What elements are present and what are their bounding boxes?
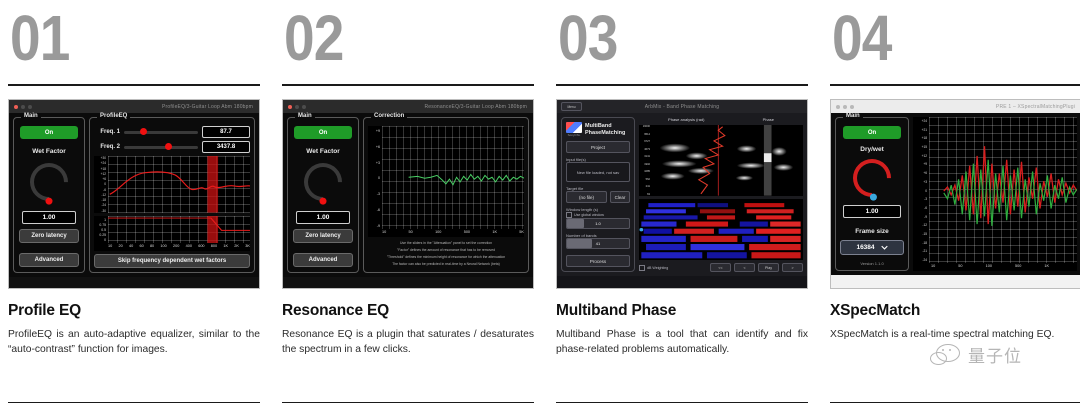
y-tick: -9 [913, 215, 927, 219]
y-tick: +18 [913, 136, 927, 140]
wet-factor-plot[interactable]: 1 0.75 0.5 0.25 0 [94, 216, 250, 251]
y-tick: +6 [94, 177, 106, 181]
freq1-label: Freq. 1 [94, 129, 120, 135]
y-tick: -12 [913, 223, 927, 227]
bands-field: Number of bands 41 [566, 233, 630, 249]
y-tick: 0.75 [94, 223, 106, 227]
y-tick: -30 [94, 209, 106, 213]
x-axis: 10 50 100 500 1K 5K [382, 230, 524, 237]
version-label: Version 1.1.0 [860, 261, 883, 266]
spectrogram-y-axis: 16000 9514 6727 4673 3141 1902 1085 562 … [639, 125, 651, 196]
wet-factor-knob[interactable] [296, 155, 350, 209]
window-body: SonyCSL MultiBand PhaseMatching Project … [557, 113, 807, 276]
y-tick: -3 [913, 197, 927, 201]
y-tick: -6 [913, 206, 927, 210]
x-tick: 80 [150, 244, 154, 251]
x-tick: 50 [409, 230, 413, 237]
x-tick: 400 [186, 244, 192, 251]
eq-response-curve [108, 156, 250, 213]
zero-latency-button[interactable]: Zero latency [19, 229, 79, 243]
main-group-label: Main [295, 113, 315, 119]
y-tick: +15 [913, 145, 927, 149]
card-description: ProfileEQ is an auto-adaptive equalizer,… [8, 327, 260, 358]
screenshot-multiband-phase: Menu ArbMix - Band Phase Matching SonyCS… [556, 99, 808, 289]
sony-csl-logo-icon [566, 122, 582, 133]
wet-factor-label: Wet Factor [32, 148, 65, 155]
global-window-label: Use global window [574, 213, 604, 217]
zoom-icon[interactable] [302, 105, 306, 109]
x-tick: 500 [464, 230, 470, 237]
pane-title-left: Phase analysis (rad) [668, 117, 704, 122]
bands-value: 41 [567, 239, 629, 248]
minimize-icon[interactable] [843, 105, 847, 109]
checkbox-icon[interactable] [639, 265, 645, 271]
close-icon[interactable] [836, 105, 840, 109]
window-title: ProfileEQ/3-Guitar Loop Abm 180bpm [162, 104, 253, 110]
window-title: ArbMix - Band Phase Matching [557, 104, 807, 110]
controls-panel: SonyCSL MultiBand PhaseMatching Project … [561, 117, 635, 272]
screenshot-xspecmatch: PRE 1 – XSpectralMatchingPlugi Main On D… [830, 99, 1080, 289]
zero-latency-button[interactable]: Zero latency [293, 229, 353, 243]
window-titlebar: Menu ArbMix - Band Phase Matching [557, 100, 807, 113]
card-description: Multiband Phase is a tool that can ident… [556, 327, 808, 358]
x-tick: 60 [139, 244, 143, 251]
drywet-value[interactable]: 1.00 [843, 205, 901, 218]
y-tick: 241 [639, 185, 650, 188]
y-tick: -15 [913, 232, 927, 236]
x-tick: 600 [198, 244, 204, 251]
x-tick: 2K [234, 244, 239, 251]
skip-wet-factors-button[interactable]: Skip frequency dependent wet factors [94, 254, 250, 268]
knob-handle-icon[interactable] [44, 196, 54, 206]
y-tick: 0 [94, 238, 106, 242]
knob-handle-icon[interactable] [868, 192, 878, 202]
x-tick: 1K [492, 230, 497, 237]
freq1-row: Freq. 1 87.7 [94, 126, 250, 138]
x-tick: 3K [245, 244, 250, 251]
brand-line-2: PhaseMatching [585, 130, 625, 136]
input-file-value[interactable]: New file loaded, not sav [566, 162, 630, 182]
wet-factor-label: Wet Factor [306, 148, 339, 155]
freq2-row: Freq. 2 3437.8 [94, 141, 250, 153]
divider-top [8, 84, 260, 86]
help-text-block: Use the sliders in the "Attenuation" pan… [368, 240, 524, 268]
window-title: ResonanceEQ/3-Guitar Loop Abm 180bpm [424, 104, 527, 110]
y-tick: 0.5 [94, 228, 106, 232]
zoom-icon[interactable] [28, 105, 32, 109]
main-group-label: Main [21, 113, 41, 119]
y-tick: -9 [368, 224, 380, 228]
x-tick: 10 [931, 264, 935, 271]
y-tick: +6 [368, 145, 380, 149]
y-tick: +3 [368, 161, 380, 165]
frame-size-value: 16384 [856, 244, 874, 251]
spectrum-plot[interactable]: +24 +21 +18 +15 +12 +9 +6 +3 0 -3 -6 -9 [913, 117, 1077, 271]
x-tick: 100 [160, 244, 166, 251]
freq2-value[interactable]: 3437.8 [202, 141, 250, 153]
freq2-label: Freq. 2 [94, 144, 120, 150]
wet-factor-curve [108, 216, 250, 243]
y-tick: +12 [913, 154, 927, 158]
profileeq-group-label: ProfileEQ [97, 113, 130, 119]
x-tick: 1K [223, 244, 228, 251]
y-tick: 1085 [639, 170, 650, 173]
card-xspecmatch: 04 PRE 1 – XSpectralMatchingPlugi Main O… [830, 0, 1080, 403]
freq2-thumb[interactable] [165, 143, 172, 150]
target-file-field: Target file (no file) Clear [566, 186, 630, 203]
y-tick: 9514 [639, 133, 650, 136]
frame-size-label: Frame size [855, 228, 889, 235]
main-group: Main On Dry/wet 1.00 Frame size 16384 Ve… [835, 117, 909, 271]
card-title: Profile EQ [8, 302, 260, 320]
target-file-value[interactable]: (no file) [566, 191, 607, 203]
window-title: PRE 1 – XSpectralMatchingPlugi [996, 104, 1075, 110]
x-tick: 200 [173, 244, 179, 251]
main-group: Main On Wet Factor 1.00 Zero latency Adv… [13, 117, 85, 273]
advanced-button[interactable]: Advanced [19, 253, 79, 267]
help-line: "Factor" defines the amount of resonance… [368, 247, 524, 254]
correction-group-label: Correction [371, 113, 407, 119]
y-tick: +21 [913, 128, 927, 132]
x-tick: 100 [986, 264, 992, 271]
y-tick: -24 [94, 203, 106, 207]
wet-factor-knob[interactable] [22, 155, 76, 209]
phase-heatmap[interactable] [639, 199, 803, 260]
y-tick: +6 [913, 171, 927, 175]
card-title: XSpecMatch [830, 302, 1080, 320]
y-tick: +3 [913, 180, 927, 184]
y-tick: +12 [94, 172, 106, 176]
help-line: The factor can also be predicted in real… [368, 261, 524, 268]
x-tick: 40 [129, 244, 133, 251]
card-number: 02 [284, 6, 499, 70]
x-tick: 50 [958, 264, 962, 271]
eq-curve-plot[interactable]: +30 +24 +18 +12 +6 0 -6 -12 -18 -24 -30 [94, 156, 250, 213]
phase-spectrogram[interactable]: 16000 9514 6727 4673 3141 1902 1085 562 … [639, 125, 803, 196]
play-button[interactable]: Play [758, 263, 779, 272]
y-tick: 562 [639, 178, 650, 181]
y-tick: +24 [94, 161, 106, 165]
spectrum-curves [929, 117, 1077, 263]
prev-button[interactable]: < [734, 263, 755, 272]
power-button[interactable]: On [294, 126, 352, 139]
cards-grid: 01 ProfileEQ/3-Guitar Loop Abm 180bpm Ma… [0, 0, 1080, 403]
x-tick: 800 [211, 244, 217, 251]
window-body: Main On Dry/wet 1.00 Frame size 16384 Ve… [831, 113, 1080, 275]
freq2-slider[interactable] [124, 146, 198, 149]
main-group: Main On Wet Factor 1.00 Zero latency Adv… [287, 117, 359, 273]
target-file-row: (no file) Clear [566, 191, 630, 203]
pane-titles: Phase analysis (rad) Phase [639, 117, 803, 122]
y-tick: -12 [94, 193, 106, 197]
process-button[interactable]: Process [566, 255, 630, 267]
brand-name: MultiBand PhaseMatching [585, 123, 625, 136]
y-tick: 0 [94, 182, 106, 186]
advanced-button[interactable]: Advanced [293, 253, 353, 267]
drywet-knob[interactable] [845, 151, 899, 205]
y-tick: -6 [94, 188, 106, 192]
window-titlebar: PRE 1 – XSpectralMatchingPlugi [831, 100, 1080, 113]
minimize-icon[interactable] [21, 105, 25, 109]
freq1-value[interactable]: 87.7 [202, 126, 250, 138]
x-axis: 10 50 100 500 1K [931, 264, 1049, 271]
bands-slider[interactable]: 41 [566, 238, 630, 249]
freq1-slider[interactable] [124, 131, 198, 134]
divider-top [556, 84, 808, 86]
y-tick: 63 [639, 193, 650, 196]
y-tick: 4673 [639, 148, 650, 151]
card-multiband-phase: 03 Menu ArbMix - Band Phase Matching Son… [556, 0, 808, 403]
screenshot-profile-eq: ProfileEQ/3-Guitar Loop Abm 180bpm Main … [8, 99, 260, 289]
y-tick: 0.25 [94, 233, 106, 237]
knob-handle-icon[interactable] [318, 196, 328, 206]
card-title: Multiband Phase [556, 302, 808, 320]
window-controls[interactable] [288, 105, 306, 109]
y-tick: +18 [94, 167, 106, 171]
spectrogram-image [651, 125, 803, 196]
correction-curve [382, 126, 524, 229]
analysis-panel: Phase analysis (rad) Phase 16000 9514 67… [639, 117, 803, 272]
card-profile-eq: 01 ProfileEQ/3-Guitar Loop Abm 180bpm Ma… [8, 0, 260, 403]
db-weighting-label: dB Weighting [647, 266, 668, 270]
x-tick: 5K [519, 230, 524, 237]
y-tick: +30 [94, 156, 106, 160]
window-controls[interactable] [14, 105, 32, 109]
pane-title-right: Phase [763, 117, 774, 122]
brand-sub: SonyCSL [568, 133, 581, 137]
y-tick: -18 [94, 198, 106, 202]
y-tick: 1 [94, 218, 106, 222]
card-description: Resonance EQ is a plugin that saturates … [282, 327, 534, 358]
y-tick: +9 [913, 162, 927, 166]
window-length-field: Window length (s) Use global window 1.0 [566, 207, 630, 229]
chevron-down-icon [881, 245, 888, 250]
main-group-label: Main [843, 113, 863, 119]
wet-factor-value[interactable]: 1.00 [296, 211, 350, 224]
help-line: "Threshold" defines the minimum height o… [368, 254, 524, 261]
close-icon[interactable] [14, 105, 18, 109]
y-tick: +24 [913, 119, 927, 123]
close-icon[interactable] [288, 105, 292, 109]
help-line: Use the sliders in the "Attenuation" pan… [368, 240, 524, 247]
zoom-icon[interactable] [850, 105, 854, 109]
window-titlebar: ResonanceEQ/3-Guitar Loop Abm 180bpm [283, 100, 533, 113]
brand-block: SonyCSL MultiBand PhaseMatching [566, 122, 630, 137]
divider-top [282, 84, 534, 86]
x-tick: 10 [108, 244, 112, 251]
rewind-button[interactable]: << [710, 263, 731, 272]
x-tick: 100 [435, 230, 441, 237]
y-tick: -24 [913, 258, 927, 262]
y-tick: 16000 [639, 125, 650, 128]
project-button[interactable]: Project [566, 141, 630, 153]
card-title: Resonance EQ [282, 302, 534, 320]
card-number: 04 [832, 6, 1047, 70]
x-tick: 1K [1044, 264, 1049, 271]
y-tick: -21 [913, 249, 927, 253]
y-tick: -3 [368, 192, 380, 196]
clear-button[interactable]: Clear [610, 191, 630, 203]
y-tick: +9 [368, 129, 380, 133]
card-number: 01 [10, 6, 225, 70]
y-tick: 1902 [639, 163, 650, 166]
heatmap-image [639, 199, 803, 260]
y-tick: 3141 [639, 155, 650, 158]
divider-top [830, 84, 1080, 86]
card-description: XSpecMatch is a real-time spectral match… [830, 327, 1080, 342]
x-tick: 500 [1015, 264, 1021, 271]
next-button[interactable]: > [782, 263, 803, 272]
window-titlebar: ProfileEQ/3-Guitar Loop Abm 180bpm [9, 100, 259, 113]
x-axis: 10 20 40 60 80 100 200 400 600 800 1K [108, 244, 250, 251]
drywet-label: Dry/wet [860, 146, 883, 153]
power-button[interactable]: On [843, 126, 901, 139]
profileeq-group: ProfileEQ Freq. 1 87.7 Freq. 2 3437.8 [89, 117, 255, 273]
correction-group: Correction +9 +6 +3 0 -3 -6 -9 [363, 117, 529, 273]
frame-size-select[interactable]: 16384 [840, 240, 904, 255]
transport-bar: dB Weighting << < Play > [639, 263, 803, 272]
x-tick: 10 [382, 230, 386, 237]
transport-buttons: << < Play > [710, 263, 803, 272]
window-body: Main On Wet Factor 1.00 Zero latency Adv… [9, 113, 259, 277]
card-resonance-eq: 02 ResonanceEQ/3-Guitar Loop Abm 180bpm … [282, 0, 534, 403]
window-length-value: 1.0 [567, 219, 629, 228]
y-tick: 0 [368, 176, 380, 180]
y-tick: -18 [913, 241, 927, 245]
y-tick: 0 [913, 189, 927, 193]
power-button[interactable]: On [20, 126, 78, 139]
window-body: Main On Wet Factor 1.00 Zero latency Adv… [283, 113, 533, 277]
poster-root: 01 ProfileEQ/3-Guitar Loop Abm 180bpm Ma… [0, 0, 1080, 403]
y-tick: -6 [368, 208, 380, 212]
input-file-field: Input file(s) New file loaded, not sav [566, 157, 630, 182]
wet-factor-value[interactable]: 1.00 [22, 211, 76, 224]
y-tick: 6727 [639, 140, 650, 143]
minimize-icon[interactable] [295, 105, 299, 109]
x-tick: 20 [118, 244, 122, 251]
freq1-thumb[interactable] [140, 128, 147, 135]
window-controls[interactable] [836, 105, 854, 109]
screenshot-resonance-eq: ResonanceEQ/3-Guitar Loop Abm 180bpm Mai… [282, 99, 534, 289]
db-weighting-checkbox[interactable]: dB Weighting [639, 265, 668, 271]
correction-plot[interactable]: +9 +6 +3 0 -3 -6 -9 [368, 126, 524, 237]
card-number: 03 [558, 6, 773, 70]
window-length-slider[interactable]: 1.0 [566, 218, 630, 229]
